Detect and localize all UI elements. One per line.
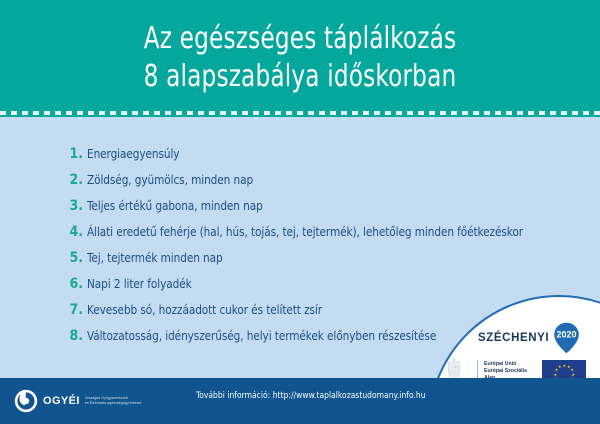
ogyei-subtitle: Országos Gyógyszerészeti és Élelmezés-eg… [85, 396, 141, 406]
svg-text:2020: 2020 [557, 330, 577, 340]
eu-star-icon: ★ [563, 364, 566, 367]
eu-star-icon: ★ [558, 365, 561, 368]
ogyei-subtitle-line-2: és Élelmezés-egészségügyi Intézet [85, 401, 141, 405]
eu-text-line-1: Európai Unió [484, 361, 516, 367]
rule-item-7: 7.Kevesebb só, hozzáadott cukor és telít… [0, 302, 340, 328]
szechenyi-wordmark: SZÉCHENYI [478, 332, 549, 344]
rule-number: 1. [66, 146, 83, 162]
dashed-divider [0, 111, 600, 115]
rule-text: Változatosság, idényszerűség, helyi term… [87, 328, 436, 343]
szechenyi-logo: SZÉCHENYI 2020 [478, 322, 580, 354]
rule-number: 5. [66, 250, 83, 266]
eu-star-icon: ★ [570, 368, 573, 371]
rule-number: 4. [66, 224, 83, 240]
rule-number: 2. [66, 172, 83, 188]
eu-star-icon: ★ [554, 373, 557, 376]
ogyei-logo: OGYÉI Országos Gyógyszerészeti és Élelme… [14, 389, 141, 413]
rule-text: Tej, tejtermék minden nap [87, 250, 223, 265]
poster-root: Az egészséges táplálkozás 8 alapszabálya… [0, 0, 600, 424]
page-title: Az egészséges táplálkozás 8 alapszabálya… [0, 20, 600, 96]
rule-item-2: 2.Zöldség, gyümölcs, minden nap [0, 172, 266, 198]
rule-number: 6. [66, 276, 83, 292]
header-band: Az egészséges táplálkozás 8 alapszabálya… [0, 0, 600, 117]
rule-item-8: 8.Változatosság, idényszerűség, helyi te… [0, 328, 463, 354]
rule-item-3: 3.Teljes értékű gabona, minden nap [0, 198, 276, 224]
rule-text: Kevesebb só, hozzáadott cukor és telítet… [87, 302, 322, 317]
rule-item-5: 5.Tej, tejtermék minden nap [0, 250, 233, 276]
footer-info-text[interactable]: További információ: http://www.taplalkoz… [196, 390, 426, 400]
rule-number: 7. [66, 302, 83, 318]
rule-text: Teljes értékű gabona, minden nap [87, 198, 263, 213]
ogyei-wordmark: OGYÉI [43, 395, 80, 407]
page-title-line-2: 8 alapszabálya időskorban [42, 58, 558, 96]
rule-item-1: 1.Energiaegyensúly [0, 146, 186, 172]
ogyei-subtitle-line-1: Országos Gyógyszerészeti [85, 396, 128, 400]
rule-number: 3. [66, 198, 83, 214]
rule-item-4: 4.Állati eredetű fehérje (hal, hús, tojá… [0, 224, 556, 250]
eu-text-line-2: Európai Szociális [484, 368, 527, 374]
rule-item-6: 6.Napi 2 liter folyadék [0, 276, 199, 302]
rule-text: Állati eredetű fehérje (hal, hús, tojás,… [87, 224, 523, 239]
map-pin-icon: 2020 [553, 322, 580, 354]
rule-text: Zöldség, gyümölcs, minden nap [87, 172, 253, 187]
page-title-line-1: Az egészséges táplálkozás [42, 20, 558, 58]
footer-band: OGYÉI Országos Gyógyszerészeti és Élelme… [0, 378, 600, 424]
ogyei-emblem-icon [14, 389, 38, 413]
rule-number: 8. [66, 328, 83, 344]
rule-text: Napi 2 liter folyadék [87, 276, 192, 291]
rule-text: Energiaegyensúly [87, 146, 179, 161]
